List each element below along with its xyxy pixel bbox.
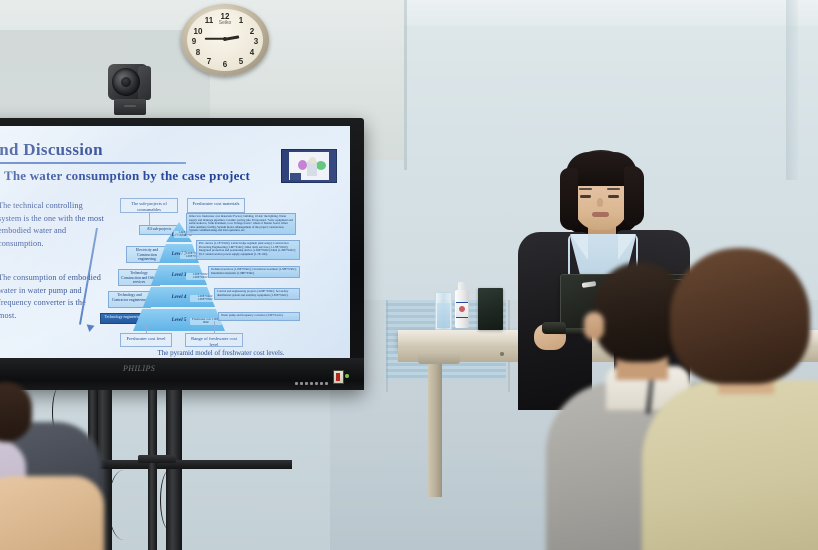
wall-line-b: [386, 300, 388, 392]
display-control-key[interactable]: [305, 382, 308, 385]
pyramid-diagram: Level 1 Level 2 Level 3 Level 4: [0, 126, 350, 232]
display-stand-post-b: [148, 390, 157, 550]
clock-num-1: 1: [235, 16, 247, 25]
sanitizer-label: [456, 302, 468, 318]
audience-b-body: [642, 380, 818, 550]
audience-cream-sweater: [640, 248, 818, 550]
diagram-inner: The sub-projects of consumables Freshwat…: [0, 126, 350, 358]
pyramid-right-text-4: Control and engineering projects (4.60E+…: [214, 288, 300, 300]
pyramid-right-text-2: PLC device (1.1E+01m³); Cable bridge seg…: [196, 240, 300, 260]
conference-camera: [108, 64, 154, 120]
camera-lens: [112, 68, 140, 96]
camera-indicator: [124, 105, 136, 107]
audience-bottom-left-foreground: [0, 476, 94, 550]
footer-connector-right: [214, 321, 215, 333]
display-control-panel[interactable]: [294, 372, 334, 381]
presenter-nose: [597, 198, 603, 207]
table-fitting: [500, 352, 504, 356]
wall-right-edge: [786, 0, 798, 180]
clock-num-12: 12: [219, 12, 231, 21]
drinking-glass: [435, 292, 452, 330]
display-stand-foot: [138, 455, 176, 463]
presenter-hair-side-right: [624, 166, 644, 226]
clock-num-6: 6: [219, 60, 231, 69]
display-control-key[interactable]: [320, 382, 323, 385]
clock-center-pin: [223, 37, 227, 41]
clock-num-4: 4: [246, 48, 258, 57]
presenter-hair-side-left: [560, 168, 578, 230]
camera-lens-inner: [121, 77, 131, 87]
diagram-footer-box-cost-level: Freshwater cost level: [120, 333, 172, 347]
presentation-room-photo: Seiko 12 1 2 3 4 5 6 7 8 9 10 11 lts and…: [0, 0, 818, 550]
display-control-key[interactable]: [295, 382, 298, 385]
decreasing-arrow-head: [85, 324, 94, 332]
display-control-key[interactable]: [325, 382, 328, 385]
pyramid-right-text-1: Other low freshwater cost materials: Fac…: [186, 213, 296, 235]
display-side-sticker: [333, 370, 344, 384]
clock-num-9: 9: [188, 37, 200, 46]
display-power-led: [345, 374, 349, 378]
diagram-footer-box-range: Range of freshwater cost level: [185, 333, 243, 347]
clock-num-5: 5: [235, 57, 247, 66]
dark-tablet-sign: [478, 288, 503, 330]
display-control-key[interactable]: [315, 382, 318, 385]
hand-sanitizer-bottle: [455, 282, 469, 328]
audience-d-body: [0, 476, 104, 550]
clock-num-2: 2: [246, 27, 258, 36]
display-cable-c: [160, 470, 179, 530]
audience-b-hair: [670, 248, 810, 384]
clock-num-7: 7: [203, 57, 215, 66]
camera-base: [114, 99, 146, 115]
wall-clock: Seiko 12 1 2 3 4 5 6 7 8 9 10 11: [181, 4, 269, 76]
presenter-brow-right: [607, 188, 620, 190]
decreasing-arrow: [79, 228, 98, 325]
audience-a-ear: [584, 312, 604, 340]
pyramid-right-text-3: Technical services (1.05E+03m³); Circula…: [208, 266, 300, 278]
display-brand-logo: PHILIPS: [123, 364, 155, 373]
clock-num-8: 8: [192, 48, 204, 57]
clock-num-10: 10: [192, 27, 204, 36]
slide-diagram-layer: The sub-projects of consumables Freshwat…: [0, 126, 350, 358]
table-bracket: [418, 352, 460, 364]
pyramid-right-text-5: Water pump and frequency converter (3.6E…: [218, 312, 300, 321]
presenter-brow-left: [579, 188, 592, 190]
diagram-caption: The pyramid model of freshwater cost lev…: [106, 349, 336, 357]
clock-num-11: 11: [203, 16, 215, 25]
presenter-eye-left: [580, 195, 591, 198]
presenter-eye-right: [608, 195, 619, 198]
display-control-key[interactable]: [310, 382, 313, 385]
glass-water: [437, 303, 450, 328]
clock-num-3: 3: [250, 37, 262, 46]
table-leg-left: [428, 362, 442, 497]
footer-connector-left: [146, 324, 147, 333]
wall-seam: [404, 0, 407, 170]
presenter-mouth: [592, 212, 609, 217]
display-control-key[interactable]: [300, 382, 303, 385]
